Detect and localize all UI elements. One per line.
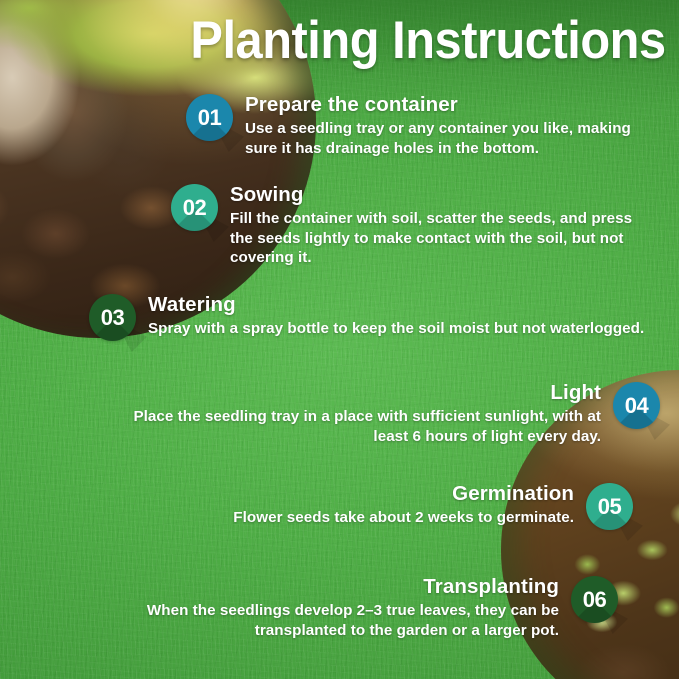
step-text-block-03: Watering Spray with a spray bottle to ke… — [148, 294, 659, 339]
step-desc-02: Fill the container with soil, scatter th… — [230, 209, 641, 268]
step-desc-04: Place the seedling tray in a place with … — [100, 407, 601, 447]
step-item-01: 01 Prepare the container Use a seedling … — [186, 94, 656, 158]
step-number-badge-01: 01 — [186, 94, 233, 141]
step-number-badge-03: 03 — [89, 294, 136, 341]
step-title-04: Light — [100, 382, 601, 405]
step-number-02: 02 — [183, 195, 206, 221]
step-text-block-06: Transplanting When the seedlings develop… — [58, 576, 559, 640]
step-desc-06: When the seedlings develop 2–3 true leav… — [58, 601, 559, 641]
step-item-03: 03 Watering Spray with a spray bottle to… — [89, 294, 659, 341]
step-desc-05: Flower seeds take about 2 weeks to germi… — [113, 508, 574, 528]
step-number-05: 05 — [598, 494, 621, 520]
step-number-04: 04 — [625, 393, 648, 419]
step-desc-01: Use a seedling tray or any container you… — [245, 119, 656, 159]
page-title: Planting Instructions — [54, 13, 673, 69]
step-item-05: 05 Germination Flower seeds take about 2… — [113, 483, 633, 530]
step-title-02: Sowing — [230, 184, 641, 207]
step-number-01: 01 — [198, 105, 221, 131]
step-title-06: Transplanting — [58, 576, 559, 599]
step-text-block-01: Prepare the container Use a seedling tra… — [245, 94, 656, 158]
planting-instructions-poster: Planting Instructions 01 Prepare the con… — [0, 0, 679, 679]
step-title-03: Watering — [148, 294, 659, 317]
step-item-04: 04 Light Place the seedling tray in a pl… — [100, 382, 660, 446]
step-desc-03: Spray with a spray bottle to keep the so… — [148, 319, 659, 339]
step-text-block-05: Germination Flower seeds take about 2 we… — [113, 483, 574, 528]
step-item-06: 06 Transplanting When the seedlings deve… — [58, 576, 618, 640]
step-title-01: Prepare the container — [245, 94, 656, 117]
step-number-badge-02: 02 — [171, 184, 218, 231]
step-text-block-02: Sowing Fill the container with soil, sca… — [230, 184, 641, 268]
step-number-03: 03 — [101, 305, 124, 331]
step-number-06: 06 — [583, 587, 606, 613]
step-item-02: 02 Sowing Fill the container with soil, … — [171, 184, 641, 268]
step-number-badge-05: 05 — [586, 483, 633, 530]
step-title-05: Germination — [113, 483, 574, 506]
step-text-block-04: Light Place the seedling tray in a place… — [100, 382, 601, 446]
step-number-badge-04: 04 — [613, 382, 660, 429]
step-number-badge-06: 06 — [571, 576, 618, 623]
